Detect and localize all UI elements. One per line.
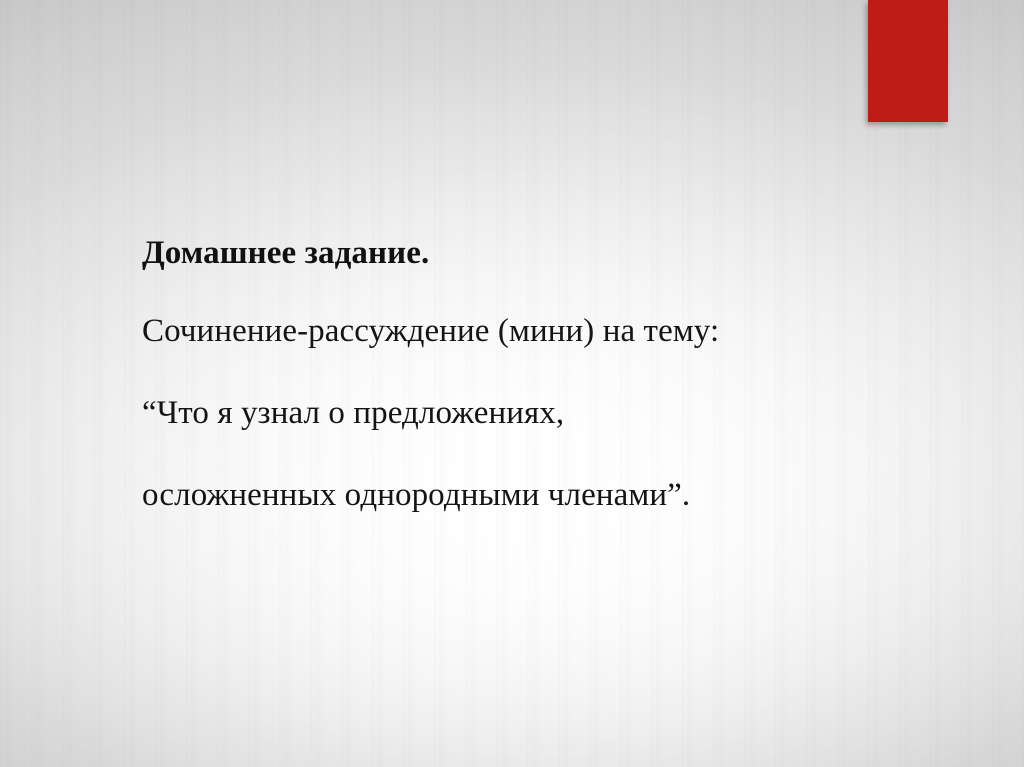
red-accent-rectangle [868, 0, 948, 122]
slide-body-line-3: осложненных однородными членами”. [142, 471, 902, 520]
slide-text-block: Домашнее задание. Сочинение-рассуждение … [142, 232, 902, 553]
slide-body-line-2: “Что я узнал о предложениях, [142, 389, 902, 438]
slide-body-line-1: Сочинение-рассуждение (мини) на тему: [142, 307, 902, 356]
slide-heading: Домашнее задание. [142, 232, 902, 274]
presentation-slide: Домашнее задание. Сочинение-рассуждение … [0, 0, 1024, 767]
